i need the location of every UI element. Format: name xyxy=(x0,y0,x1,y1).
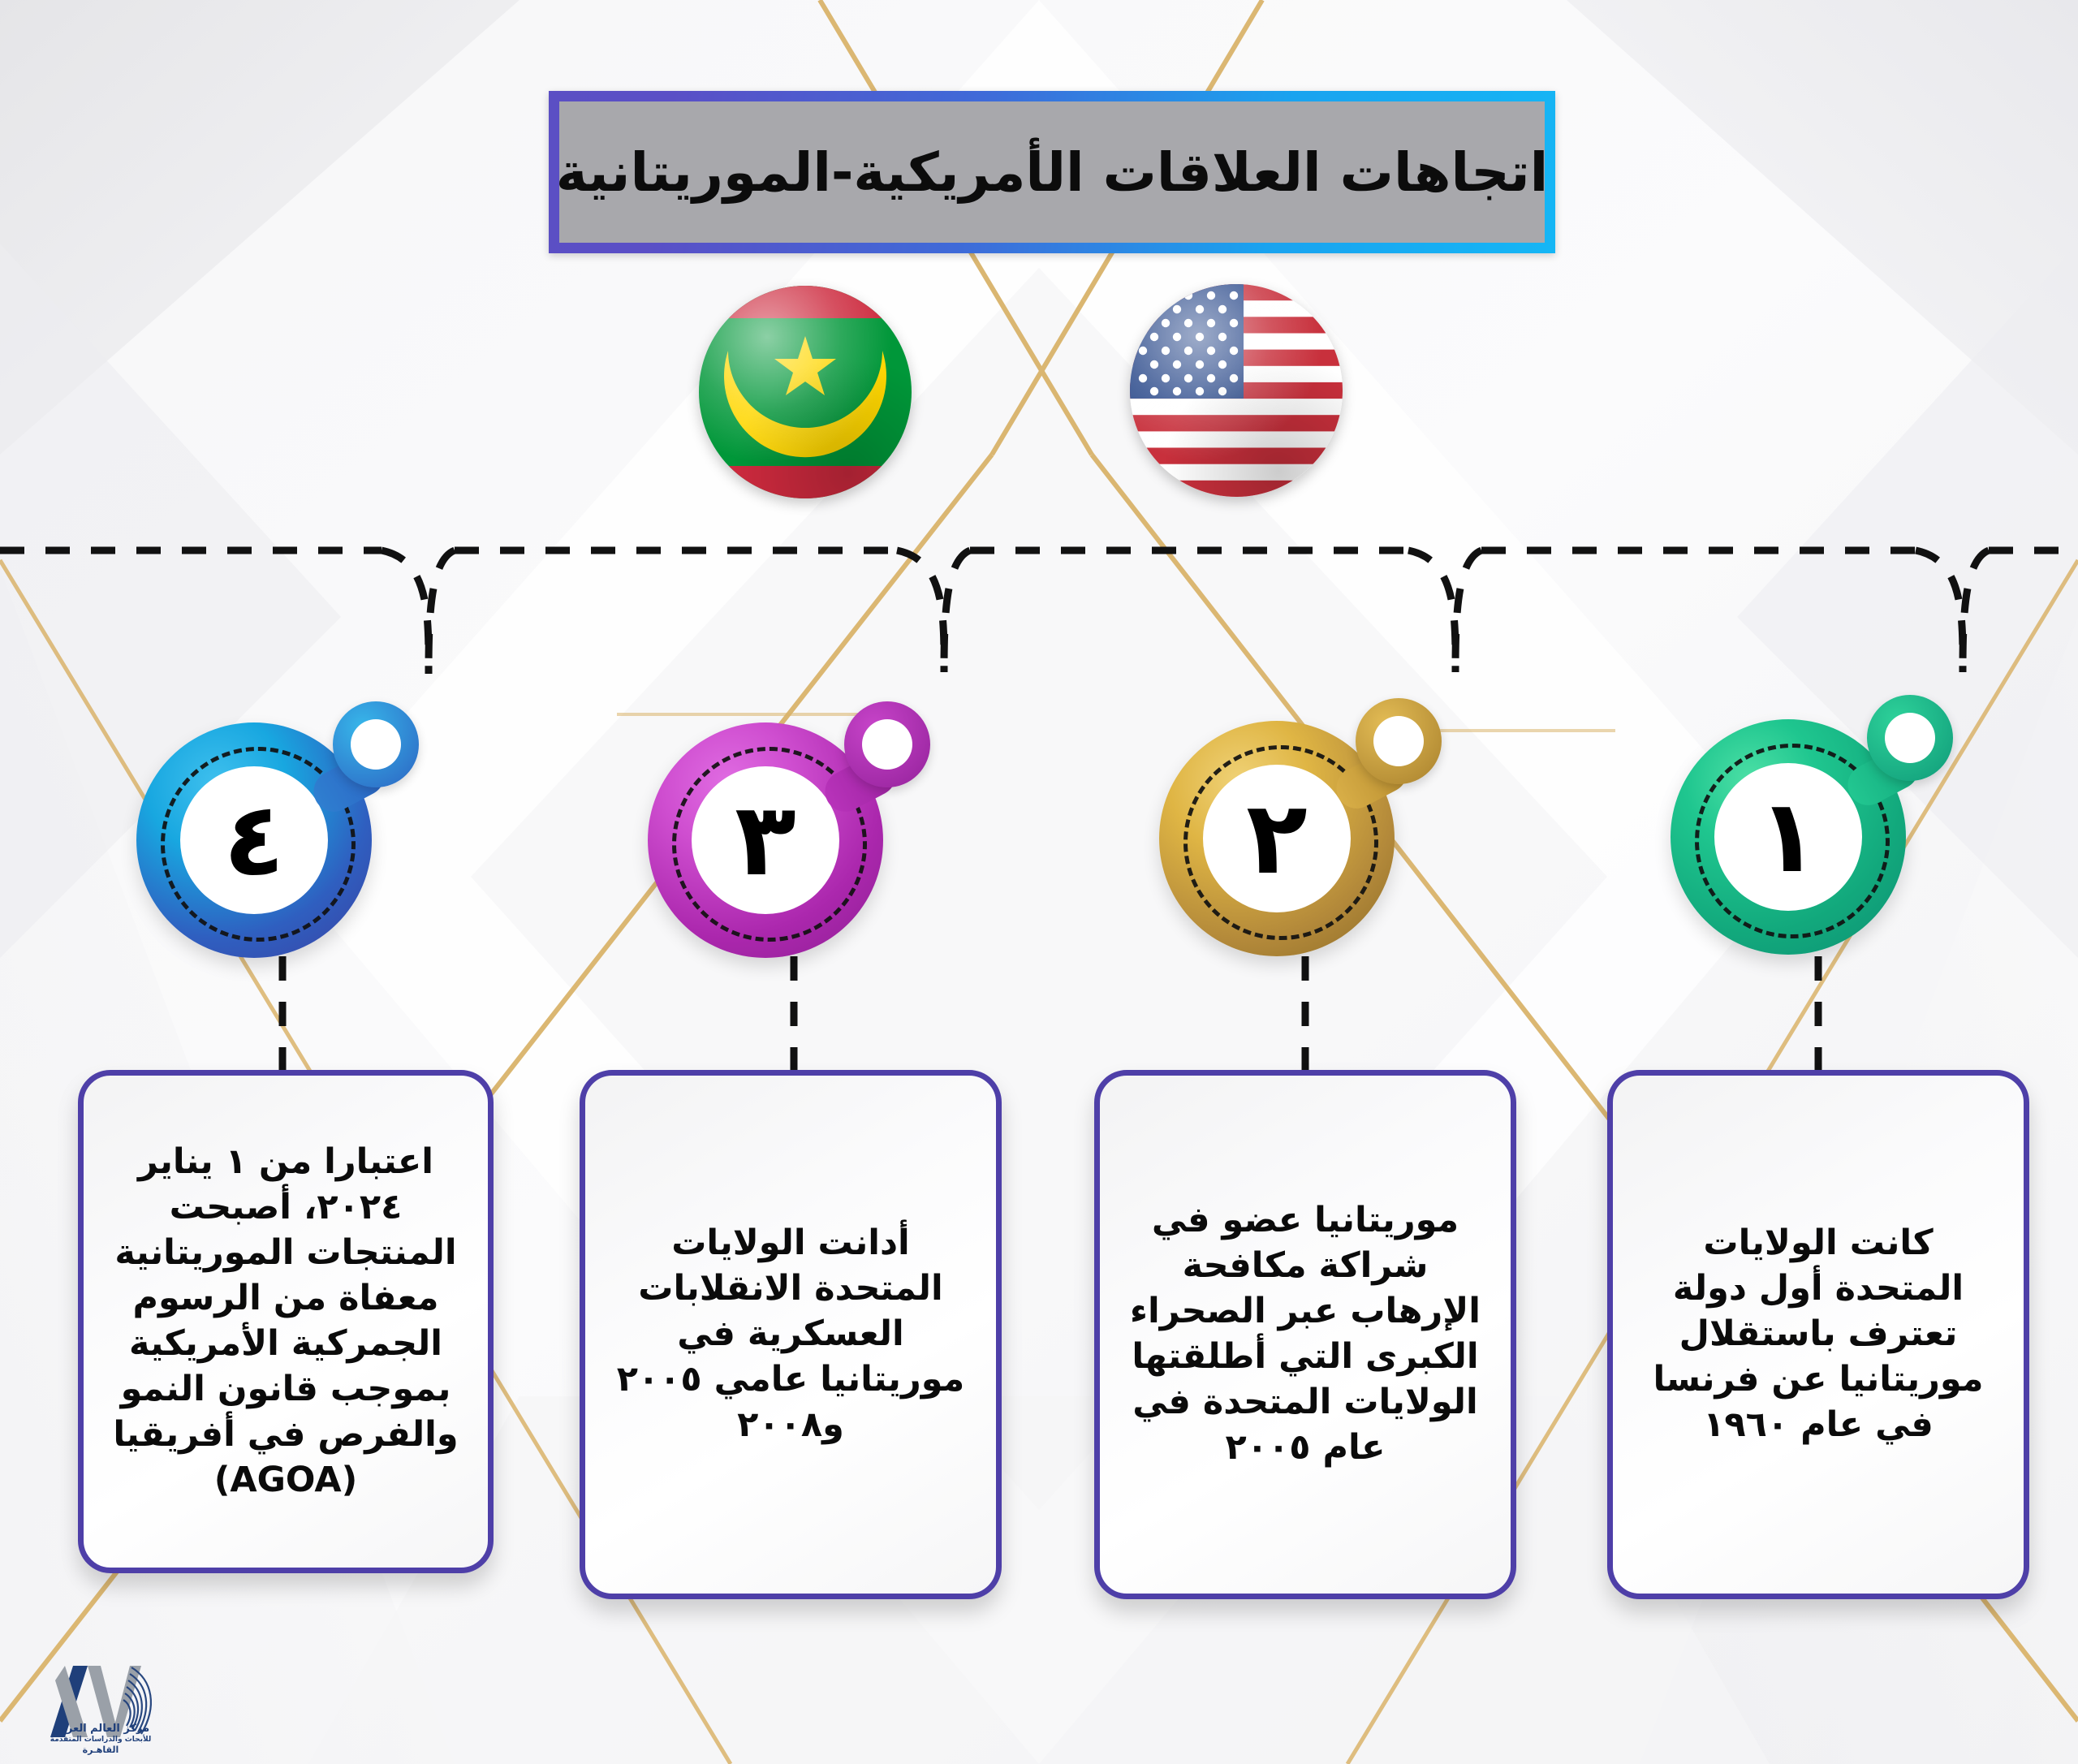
step-node-4[interactable]: ٤ xyxy=(120,674,445,966)
step-card-text-2: موريتانيا عضو في شراكة مكافحة الإرهاب عب… xyxy=(1121,1198,1490,1470)
mauritania-flag xyxy=(699,286,912,498)
page-title-inner: اتجاهات العلاقات الأمريكية-الموريتانية xyxy=(559,101,1545,243)
step-number-2: ٢ xyxy=(1159,721,1395,956)
step-number-3: ٣ xyxy=(648,722,883,958)
logo-line-1: مركز العالم العربي xyxy=(19,1723,182,1735)
infographic-canvas: اتجاهات العلاقات الأمريكية-الموريتانية xyxy=(0,0,2078,1764)
page-title: اتجاهات العلاقات الأمريكية-الموريتانية xyxy=(556,141,1549,204)
logo-line-3: القاهـرة xyxy=(19,1745,182,1755)
step-card-text-4: اعتبارا من ١ يناير ٢٠٢٤، أصبحت المنتجات … xyxy=(105,1140,467,1503)
logo-line-2: للأبحاث والدراسات المتقدمة xyxy=(19,1736,182,1744)
step-card-2[interactable]: موريتانيا عضو في شراكة مكافحة الإرهاب عب… xyxy=(1094,1070,1516,1599)
step-card-4[interactable]: اعتبارا من ١ يناير ٢٠٢٤، أصبحت المنتجات … xyxy=(78,1070,494,1573)
step-card-1[interactable]: كانت الولايات المتحدة أول دولة تعترف باس… xyxy=(1607,1070,2029,1599)
step-node-1[interactable]: ١ xyxy=(1654,671,1979,963)
step-number-1: ١ xyxy=(1671,719,1906,955)
page-title-banner: اتجاهات العلاقات الأمريكية-الموريتانية xyxy=(549,91,1555,253)
organization-logo-text: مركز العالم العربي للأبحاث والدراسات الم… xyxy=(19,1723,182,1755)
step-number-4: ٤ xyxy=(136,722,372,958)
step-node-3[interactable]: ٣ xyxy=(632,674,956,966)
step-card-3[interactable]: أدانت الولايات المتحدة الانقلابات العسكر… xyxy=(580,1070,1002,1599)
usa-flag xyxy=(1130,284,1343,497)
step-node-2[interactable]: ٢ xyxy=(1143,672,1468,964)
step-card-text-1: كانت الولايات المتحدة أول دولة تعترف باس… xyxy=(1634,1221,2003,1447)
step-card-text-3: أدانت الولايات المتحدة الانقلابات العسكر… xyxy=(606,1221,975,1447)
